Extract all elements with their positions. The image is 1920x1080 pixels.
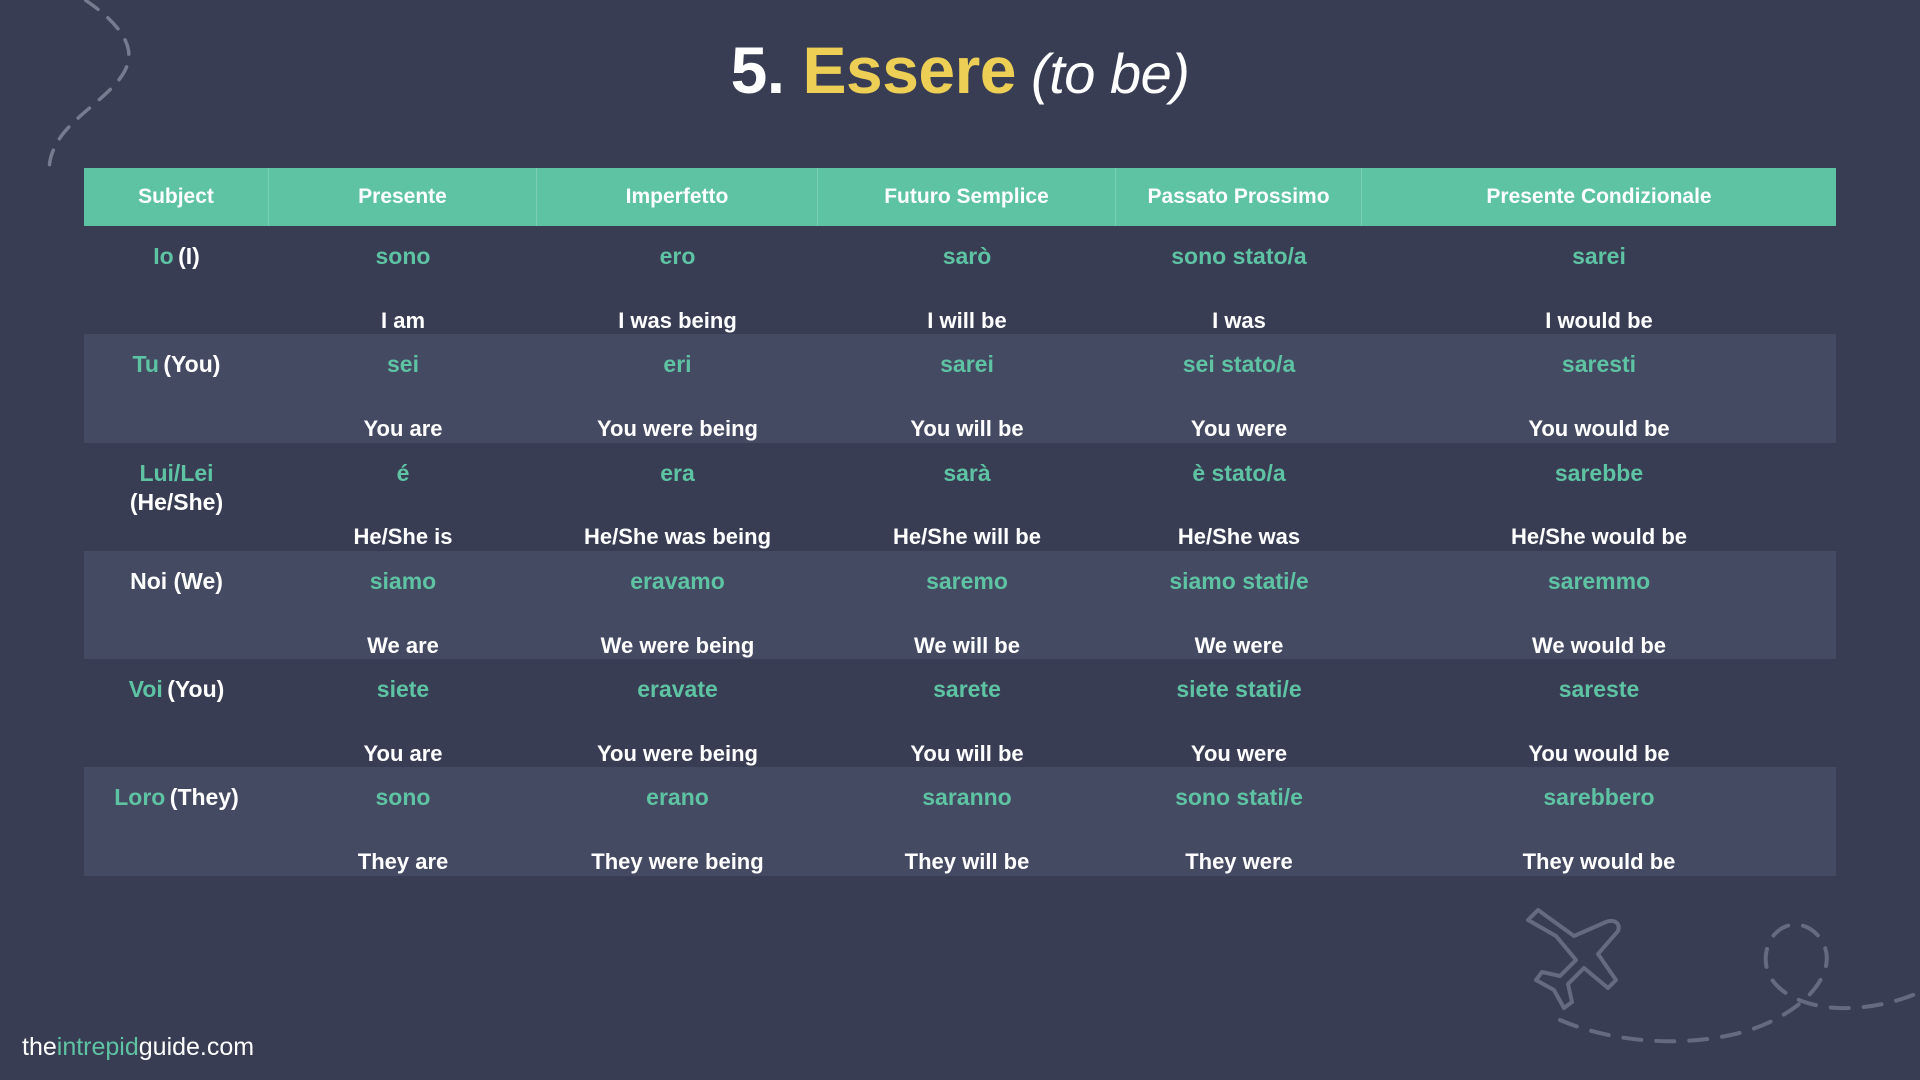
conjugation-cell: saremmoWe would be — [1362, 551, 1836, 659]
title-number: 5. — [731, 33, 803, 107]
verb-form: sarò — [943, 242, 992, 271]
conjugation-cell: eravamoWe were being — [537, 551, 818, 659]
subject-italian: Loro — [114, 784, 165, 810]
verb-form: sarei — [1572, 242, 1626, 271]
conjugation-cell: seiYou are — [269, 334, 537, 442]
column-header-presente-condizionale: Presente Condizionale — [1362, 168, 1836, 226]
verb-form: è stato/a — [1192, 459, 1285, 488]
subject-cell: Io (I) — [84, 226, 269, 334]
subject-cell: Lui/Lei(He/She) — [84, 443, 269, 551]
subject-cell: Loro (They) — [84, 767, 269, 875]
conjugation-cell: sonoThey are — [269, 767, 537, 875]
conjugation-cell: éHe/She is — [269, 443, 537, 551]
verb-translation: They would be — [1523, 848, 1676, 876]
conjugation-cell: eraHe/She was being — [537, 443, 818, 551]
table-row: Tu (You)seiYou areeriYou were beingsarei… — [84, 334, 1836, 442]
verb-form: sei — [387, 350, 419, 379]
verb-form: siete — [377, 675, 429, 704]
conjugation-cell: sareiYou will be — [818, 334, 1116, 442]
subject-cell: Voi (You) — [84, 659, 269, 767]
conjugation-cell: sieteYou are — [269, 659, 537, 767]
verb-form: saranno — [922, 783, 1011, 812]
verb-form: erano — [646, 783, 709, 812]
conjugation-cell: sarebbeHe/She would be — [1362, 443, 1836, 551]
conjugation-cell: saròI will be — [818, 226, 1116, 334]
verb-translation: I was being — [618, 307, 737, 335]
column-header-imperfetto: Imperfetto — [537, 168, 818, 226]
conjugation-cell: sareteYou will be — [818, 659, 1116, 767]
conjugation-cell: eranoThey were being — [537, 767, 818, 875]
subject-english: Noi (We) — [130, 568, 223, 594]
verb-translation: We were — [1195, 632, 1284, 660]
conjugation-cell: siamo stati/eWe were — [1116, 551, 1362, 659]
conjugation-cell: sareiI would be — [1362, 226, 1836, 334]
title-verb: Essere — [802, 33, 1016, 107]
verb-translation: We will be — [914, 632, 1020, 660]
conjugation-cell: siete stati/eYou were — [1116, 659, 1362, 767]
table-row: Lui/Lei(He/She)éHe/She iseraHe/She was b… — [84, 443, 1836, 551]
conjugation-cell: sarannoThey will be — [818, 767, 1116, 875]
verb-translation: He/She is — [353, 523, 452, 551]
conjugation-cell: sono stati/eThey were — [1116, 767, 1362, 875]
verb-translation: They will be — [905, 848, 1030, 876]
conjugation-table: SubjectPresenteImperfettoFuturo Semplice… — [84, 168, 1836, 876]
conjugation-cell: saresteYou would be — [1362, 659, 1836, 767]
table-row: Io (I)sonoI ameroI was beingsaròI will b… — [84, 226, 1836, 334]
verb-form: sareste — [1559, 675, 1640, 704]
subject-italian: Lui/Lei — [139, 460, 213, 486]
subject-italian: Tu — [133, 351, 159, 377]
verb-translation: You are — [363, 740, 442, 768]
verb-translation: You will be — [910, 415, 1023, 443]
verb-form: sono stato/a — [1171, 242, 1306, 271]
verb-translation: We would be — [1532, 632, 1666, 660]
verb-translation: I would be — [1545, 307, 1653, 335]
table-row: Voi (You)sieteYou areeravateYou were bei… — [84, 659, 1836, 767]
conjugation-cell: sono stato/aI was — [1116, 226, 1362, 334]
verb-form: sarebbe — [1555, 459, 1643, 488]
verb-translation: You would be — [1528, 740, 1669, 768]
verb-form: é — [397, 459, 410, 488]
subject-english: (He/She) — [130, 489, 223, 515]
subject-italian: Io — [153, 243, 173, 269]
airplane-icon — [1528, 910, 1619, 1008]
verb-translation: We were being — [601, 632, 755, 660]
verb-translation: They were being — [591, 848, 763, 876]
verb-translation: You were being — [597, 740, 758, 768]
subject-english: (You) — [163, 351, 220, 377]
conjugation-cell: saràHe/She will be — [818, 443, 1116, 551]
subject-english: (I) — [178, 243, 200, 269]
conjugation-cell: saremoWe will be — [818, 551, 1116, 659]
page-title: 5. Essere (to be) — [0, 34, 1920, 107]
verb-translation: They were — [1185, 848, 1293, 876]
verb-form: saremmo — [1548, 567, 1650, 596]
subject-english: (You) — [167, 676, 224, 702]
verb-form: siamo — [370, 567, 436, 596]
column-header-passato-prossimo: Passato Prossimo — [1116, 168, 1362, 226]
verb-translation: He/She was being — [584, 523, 771, 551]
conjugation-cell: eravateYou were being — [537, 659, 818, 767]
column-header-subject: Subject — [84, 168, 269, 226]
verb-translation: You would be — [1528, 415, 1669, 443]
verb-form: era — [660, 459, 695, 488]
table-header-row: SubjectPresenteImperfettoFuturo Semplice… — [84, 168, 1836, 226]
verb-form: sarebbero — [1543, 783, 1654, 812]
subject-italian: Voi — [129, 676, 163, 702]
table-row: Loro (They)sonoThey areeranoThey were be… — [84, 767, 1836, 875]
verb-form: eravamo — [630, 567, 725, 596]
verb-translation: He/She would be — [1511, 523, 1687, 551]
brand-intrepid: intrepid — [57, 1033, 139, 1061]
conjugation-cell: sei stato/aYou were — [1116, 334, 1362, 442]
conjugation-cell: è stato/aHe/She was — [1116, 443, 1362, 551]
airplane-dashed-loop-decoration — [1520, 850, 1920, 1080]
conjugation-cell: eriYou were being — [537, 334, 818, 442]
verb-form: saremo — [926, 567, 1008, 596]
verb-translation: He/She will be — [893, 523, 1041, 551]
subject-cell: Tu (You) — [84, 334, 269, 442]
subject-english: (They) — [170, 784, 239, 810]
verb-form: sono — [376, 242, 431, 271]
verb-translation: I will be — [927, 307, 1006, 335]
verb-form: sarete — [933, 675, 1001, 704]
verb-translation: You were being — [597, 415, 758, 443]
verb-form: eri — [663, 350, 691, 379]
table-row: Noi (We)siamoWe areeravamoWe were beings… — [84, 551, 1836, 659]
verb-form: siete stati/e — [1176, 675, 1301, 704]
table-body: Io (I)sonoI ameroI was beingsaròI will b… — [84, 226, 1836, 876]
conjugation-cell: sarestiYou would be — [1362, 334, 1836, 442]
verb-form: sono stati/e — [1175, 783, 1303, 812]
brand-guidecom: guide.com — [139, 1033, 254, 1061]
verb-form: sono — [376, 783, 431, 812]
conjugation-cell: eroI was being — [537, 226, 818, 334]
conjugation-cell: siamoWe are — [269, 551, 537, 659]
verb-translation: He/She was — [1178, 523, 1300, 551]
column-header-presente: Presente — [269, 168, 537, 226]
verb-form: ero — [660, 242, 696, 271]
site-branding: theintrepidguide.com — [22, 1033, 254, 1062]
verb-translation: I was — [1212, 307, 1266, 335]
verb-translation: They are — [358, 848, 449, 876]
verb-translation: We are — [367, 632, 439, 660]
verb-form: sarà — [943, 459, 990, 488]
subject-cell: Noi (We) — [84, 551, 269, 659]
verb-form: siamo stati/e — [1169, 567, 1308, 596]
title-translation: (to be) — [1016, 42, 1189, 105]
column-header-futuro-semplice: Futuro Semplice — [818, 168, 1116, 226]
verb-form: sei stato/a — [1183, 350, 1296, 379]
verb-form: saresti — [1562, 350, 1636, 379]
verb-translation: You were — [1191, 415, 1287, 443]
verb-translation: You are — [363, 415, 442, 443]
verb-translation: You were — [1191, 740, 1287, 768]
conjugation-cell: sonoI am — [269, 226, 537, 334]
verb-form: sarei — [940, 350, 994, 379]
conjugation-cell: sarebberoThey would be — [1362, 767, 1836, 875]
verb-translation: You will be — [910, 740, 1023, 768]
brand-the: the — [22, 1033, 57, 1061]
verb-form: eravate — [637, 675, 718, 704]
verb-translation: I am — [381, 307, 425, 335]
